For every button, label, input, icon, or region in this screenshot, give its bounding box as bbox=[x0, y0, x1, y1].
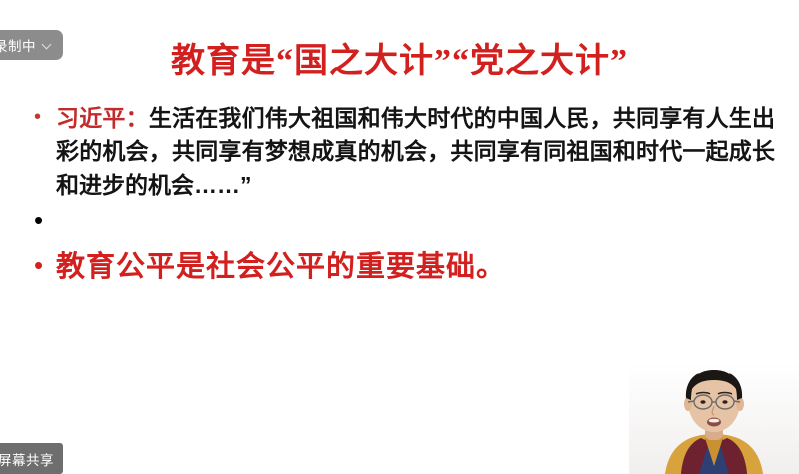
bullet-item-highlight: • 教育公平是社会公平的重要基础。 bbox=[34, 248, 775, 287]
screen-share-chip[interactable]: 屏幕共享 bbox=[0, 443, 63, 474]
chevron-down-icon[interactable] bbox=[42, 40, 53, 51]
bullet-text-highlight: 教育公平是社会公平的重要基础。 bbox=[56, 248, 775, 287]
screen-share-label: 屏幕共享 bbox=[0, 449, 54, 469]
bullet-marker-icon: • bbox=[34, 206, 56, 235]
participant-video-tile[interactable] bbox=[629, 362, 799, 474]
slide-title: 教育是“国之大计”“党之大计” bbox=[0, 42, 799, 81]
bullet-text-quote: 习近平：生活在我们伟大祖国和伟大时代的中国人民，共同享有人生出彩的机会，共同享有… bbox=[56, 102, 775, 202]
recording-status-label: 录制中 bbox=[0, 35, 36, 55]
participant-video-image bbox=[629, 362, 799, 474]
recording-status-chip[interactable]: 录制中 bbox=[0, 30, 63, 60]
quote-body-text: 生活在我们伟大祖国和伟大时代的中国人民，共同享有人生出彩的机会，共同享有梦想成真… bbox=[56, 105, 775, 198]
bullet-marker-icon: • bbox=[34, 248, 56, 283]
bullet-item-quote: • 习近平：生活在我们伟大祖国和伟大时代的中国人民，共同享有人生出彩的机会，共同… bbox=[34, 102, 775, 202]
quote-speaker-label: 习近平： bbox=[56, 105, 149, 131]
bullet-item-empty: • bbox=[34, 206, 775, 240]
slide-bullet-list: • 习近平：生活在我们伟大祖国和伟大时代的中国人民，共同享有人生出彩的机会，共同… bbox=[34, 102, 775, 287]
bullet-marker-icon: • bbox=[34, 102, 56, 132]
meeting-screen-share-view: 教育是“国之大计”“党之大计” • 习近平：生活在我们伟大祖国和伟大时代的中国人… bbox=[0, 0, 799, 474]
